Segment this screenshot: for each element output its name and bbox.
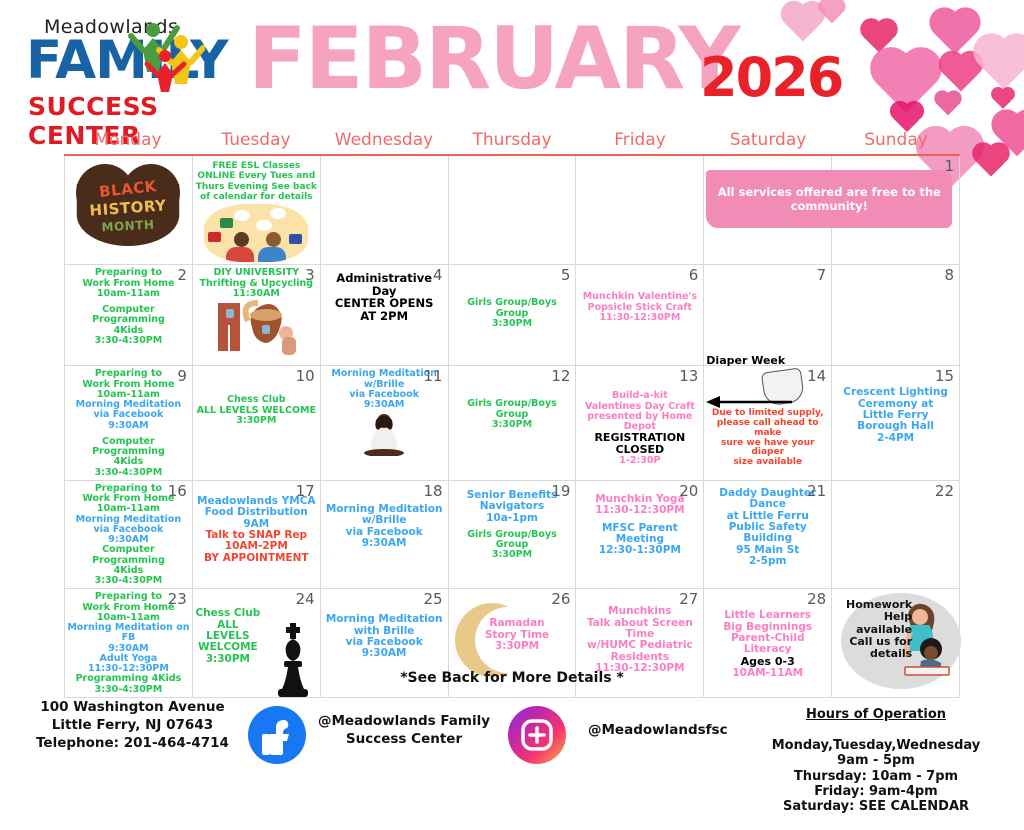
event-text: Build-a-kit Valentines Day Craft present… (578, 391, 701, 432)
day-number: 19 (551, 482, 570, 500)
event-text: Morning Meditation via Facebook 9:30AM (67, 400, 190, 431)
calendar-day-cell[interactable]: BLACK HISTORY MONTH (64, 156, 193, 265)
event-text: Munchkin Valentine's Popsicle Stick Craf… (578, 292, 701, 323)
event-text: Little Learners Big Beginnings Parent-Ch… (706, 610, 829, 655)
page-title: FEBRUARY (248, 16, 739, 102)
page-title-year: 2026 (700, 46, 842, 109)
event-text: Morning Meditation w/Brille via Facebook… (323, 504, 446, 549)
event-text: Computer Programming 4Kids 3:30-4:30PM (67, 305, 190, 346)
day-number: 12 (551, 367, 570, 385)
calendar-day-cell[interactable]: 13 Build-a-kit Valentines Day Craft pres… (576, 366, 704, 481)
event-text: MFSC Parent Meeting 12:30-1:30PM (578, 523, 701, 557)
calendar-week-row: 9 Preparing to Work From Home 10am-11am … (64, 366, 960, 481)
day-number: 17 (296, 482, 315, 500)
event-text: Munchkins Talk about Screen Time w/HUMC … (578, 606, 701, 674)
calendar-day-cell[interactable]: 5 Girls Group/Boys Group 3:30PM (449, 265, 577, 366)
event-text: Meadowlands YMCA Food Distribution 9AM (195, 496, 318, 530)
calendar-day-cell[interactable]: 20 Munchkin Yoga 11:30-12:30PM MFSC Pare… (576, 481, 704, 590)
day-number: 15 (935, 367, 954, 385)
day-number: 14 (807, 367, 826, 385)
event-text: Chess Club ALL LEVELS WELCOME 3:30PM (195, 608, 261, 665)
calendar-day-cell[interactable]: 16 Preparing to Work From Home 10am-11am… (64, 481, 193, 590)
thrifting-illustration (208, 299, 304, 357)
calendar-day-cell[interactable]: 3 DIY UNIVERSITY Thrifting & Upcycling 1… (193, 265, 321, 366)
day-number: 3 (305, 266, 315, 284)
day-header-wednesday: Wednesday (320, 130, 448, 154)
day-header-monday: Monday (64, 130, 192, 154)
facebook-icon[interactable] (248, 706, 306, 764)
diaper-week-label: Diaper Week (706, 354, 785, 367)
day-header-thursday: Thursday (448, 130, 576, 154)
event-text: Crescent Lighting Ceremony at Little Fer… (834, 387, 957, 444)
event-text: Girls Group/Boys Group 3:30PM (451, 530, 574, 561)
calendar-day-cell[interactable]: 17 Meadowlands YMCA Food Distribution 9A… (193, 481, 321, 590)
heart-decoration-icon (943, 55, 980, 92)
hours-body: Monday,Tuesday,Wednesday 9am - 5pm Thurs… (736, 738, 1016, 815)
event-text: Ramadan Story Time 3:30PM (461, 618, 574, 652)
day-number: 25 (423, 590, 442, 608)
day-number: 6 (689, 266, 699, 284)
family-people-icon (127, 20, 205, 94)
day-number: 23 (168, 590, 187, 608)
heart-decoration-icon (893, 104, 921, 132)
event-text: Girls Group/Boys Group 3:30PM (451, 298, 574, 329)
day-number: 9 (177, 367, 187, 385)
heart-decoration-icon (821, 1, 844, 24)
arrow-icon (706, 396, 792, 408)
heart-decoration-icon (937, 93, 960, 116)
calendar-day-cell[interactable]: 8 (832, 265, 960, 366)
calendar-day-cell[interactable]: 12 Girls Group/Boys Group 3:30PM (449, 366, 577, 481)
day-header-sunday: Sunday (832, 130, 960, 154)
calendar-day-cell[interactable]: 14 Diaper Week Due to limited supply, pl… (704, 366, 832, 481)
day-of-week-header-row: Monday Tuesday Wednesday Thursday Friday… (64, 130, 960, 154)
day-number: 4 (433, 266, 443, 284)
calendar-grid: Monday Tuesday Wednesday Thursday Friday… (64, 130, 960, 698)
instagram-handle: @Meadowlandsfsc (588, 722, 728, 738)
meditation-illustration (358, 412, 410, 458)
calendar-day-cell[interactable]: 7 (704, 265, 832, 366)
day-number: 8 (944, 266, 954, 284)
calendar-day-cell[interactable]: 9 Preparing to Work From Home 10am-11am … (64, 366, 193, 481)
day-number: 21 (807, 482, 826, 500)
event-text: Morning Meditation with Brille via Faceb… (323, 614, 446, 659)
heart-decoration-icon (785, 5, 822, 42)
event-text: 1-2:30P (578, 456, 701, 466)
hours-title: Hours of Operation (736, 707, 1016, 722)
heart-decoration-icon (993, 89, 1013, 109)
heart-decoration-icon (975, 145, 1006, 176)
calendar-week-row: 2 Preparing to Work From Home 10am-11am … (64, 265, 960, 366)
event-text: Administrative Day CENTER OPENS AT 2PM (323, 272, 446, 322)
calendar-day-cell[interactable] (576, 156, 704, 265)
event-text: Preparing to Work From Home 10am-11am (67, 268, 190, 299)
day-number: 27 (679, 590, 698, 608)
day-header-tuesday: Tuesday (192, 130, 320, 154)
event-text: Talk to SNAP Rep 10AM-2PM BY APPOINTMENT (195, 530, 318, 564)
free-services-banner-text: All services offered are free to the com… (706, 185, 952, 214)
calendar-day-cell[interactable]: 11 Morning Meditation w/Brille via Faceb… (321, 366, 449, 481)
calendar-day-cell[interactable]: 4 Administrative Day CENTER OPENS AT 2PM (321, 265, 449, 366)
day-number: 28 (807, 590, 826, 608)
hours-of-operation: Hours of Operation Monday,Tuesday,Wednes… (736, 692, 1016, 830)
homework-help-text: Homework Help available Call us for deta… (838, 599, 912, 659)
heart-decoration-icon (979, 39, 1024, 90)
calendar-day-cell[interactable]: 22 (832, 481, 960, 590)
day-number: 16 (168, 482, 187, 500)
esl-classes-note: FREE ESL Classes ONLINE Every Tues and T… (195, 161, 318, 202)
facebook-handle: @Meadowlands Family Success Center (318, 712, 490, 748)
calendar-day-cell[interactable]: 19 Senior Benefits Navigators 10a-1pm Gi… (449, 481, 577, 590)
organization-logo: Meadowlands FAMILY SUCCESS CENTER (22, 12, 252, 117)
day-number: 11 (423, 367, 442, 385)
calendar-day-cell[interactable] (321, 156, 449, 265)
diaper-week-note: Due to limited supply, please call ahead… (706, 409, 829, 467)
calendar-day-cell[interactable] (449, 156, 577, 265)
day-number: 26 (551, 590, 570, 608)
event-text: REGISTRATION CLOSED (578, 432, 701, 456)
event-text: Ages 0-3 (706, 656, 829, 668)
heart-decoration-icon (934, 12, 976, 54)
day-number: 5 (561, 266, 571, 284)
event-text: Computer Programming 4Kids 3:30-4:30PM (67, 437, 190, 478)
event-text: Morning Meditation via Facebook 9:30AM (67, 515, 190, 546)
calendar-day-cell[interactable]: 6 Munchkin Valentine's Popsicle Stick Cr… (576, 265, 704, 366)
esl-conversation-illustration (204, 204, 308, 262)
calendar-day-cell[interactable]: 15 Crescent Lighting Ceremony at Little … (832, 366, 960, 481)
calendar-day-cell[interactable]: 18 Morning Meditation w/Brille via Faceb… (321, 481, 449, 590)
address-block: 100 Washington Avenue Little Ferry, NJ 0… (36, 698, 229, 753)
day-number: 2 (177, 266, 187, 284)
day-header-saturday: Saturday (704, 130, 832, 154)
calendar-day-cell[interactable]: All services offered are free to the com… (704, 156, 832, 265)
calendar-day-cell[interactable]: 2 Preparing to Work From Home 10am-11am … (64, 265, 193, 366)
event-text: Computer Programming 4Kids 3:30-4:30PM (67, 545, 190, 586)
calendar-day-cell[interactable]: 21 Daddy Daughter Dance at Little Ferru … (704, 481, 832, 590)
event-text: Morning Meditation on FB 9:30AM (67, 623, 190, 654)
free-services-banner: All services offered are free to the com… (706, 170, 952, 228)
day-number: 24 (296, 590, 315, 608)
event-text: Chess Club ALL LEVELS WELCOME 3:30PM (195, 395, 318, 426)
calendar-week-row: BLACK HISTORY MONTH FREE ESL Classes ONL… (64, 156, 960, 265)
calendar-day-cell[interactable]: FREE ESL Classes ONLINE Every Tues and T… (193, 156, 321, 265)
day-number: 18 (423, 482, 442, 500)
event-text: Girls Group/Boys Group 3:30PM (451, 399, 574, 430)
day-number: 13 (679, 367, 698, 385)
day-number: 10 (296, 367, 315, 385)
day-number: 7 (817, 266, 827, 284)
event-text: Preparing to Work From Home 10am-11am (67, 369, 190, 400)
event-text: DIY UNIVERSITY Thrifting & Upcycling 11:… (195, 268, 318, 299)
day-number: 22 (935, 482, 954, 500)
page-header: Meadowlands FAMILY SUCCESS CENTER FEBRUA… (0, 0, 1024, 128)
calendar-day-cell[interactable]: 10 Chess Club ALL LEVELS WELCOME 3:30PM (193, 366, 321, 481)
day-header-friday: Friday (576, 130, 704, 154)
day-number: 20 (679, 482, 698, 500)
calendar-week-row: 16 Preparing to Work From Home 10am-11am… (64, 481, 960, 590)
instagram-icon[interactable] (508, 706, 566, 764)
black-history-month-heart-icon: BLACK HISTORY MONTH (76, 164, 180, 250)
page-footer: 100 Washington Avenue Little Ferry, NJ 0… (0, 692, 1024, 791)
